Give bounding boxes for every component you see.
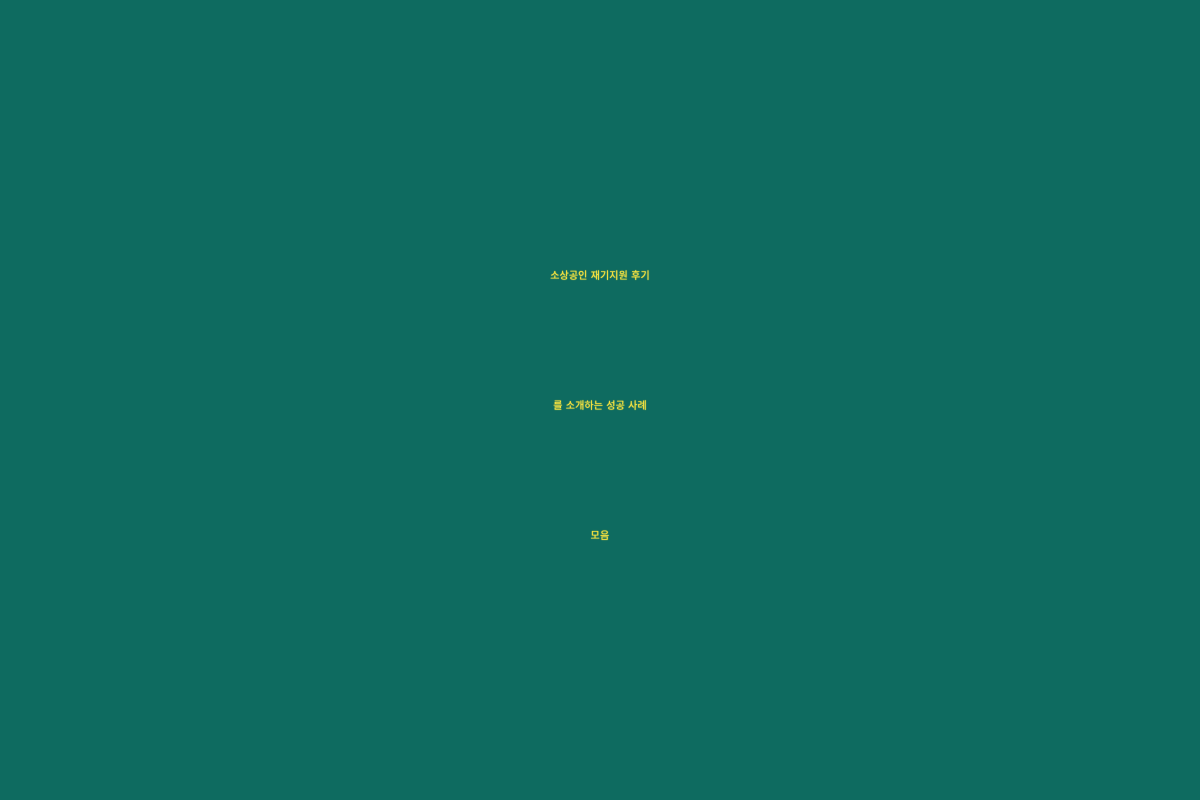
headline-line-3: 모음 [40,472,1160,602]
headline-line-1: 소상공인 재기지원 후기 [40,212,1160,342]
banner-canvas: 소상공인 재기지원 후기 를 소개하는 성공 사례 모음 [0,0,1200,800]
headline-block: 소상공인 재기지원 후기 를 소개하는 성공 사례 모음 [0,212,1200,602]
headline-line-2: 를 소개하는 성공 사례 [40,342,1160,472]
